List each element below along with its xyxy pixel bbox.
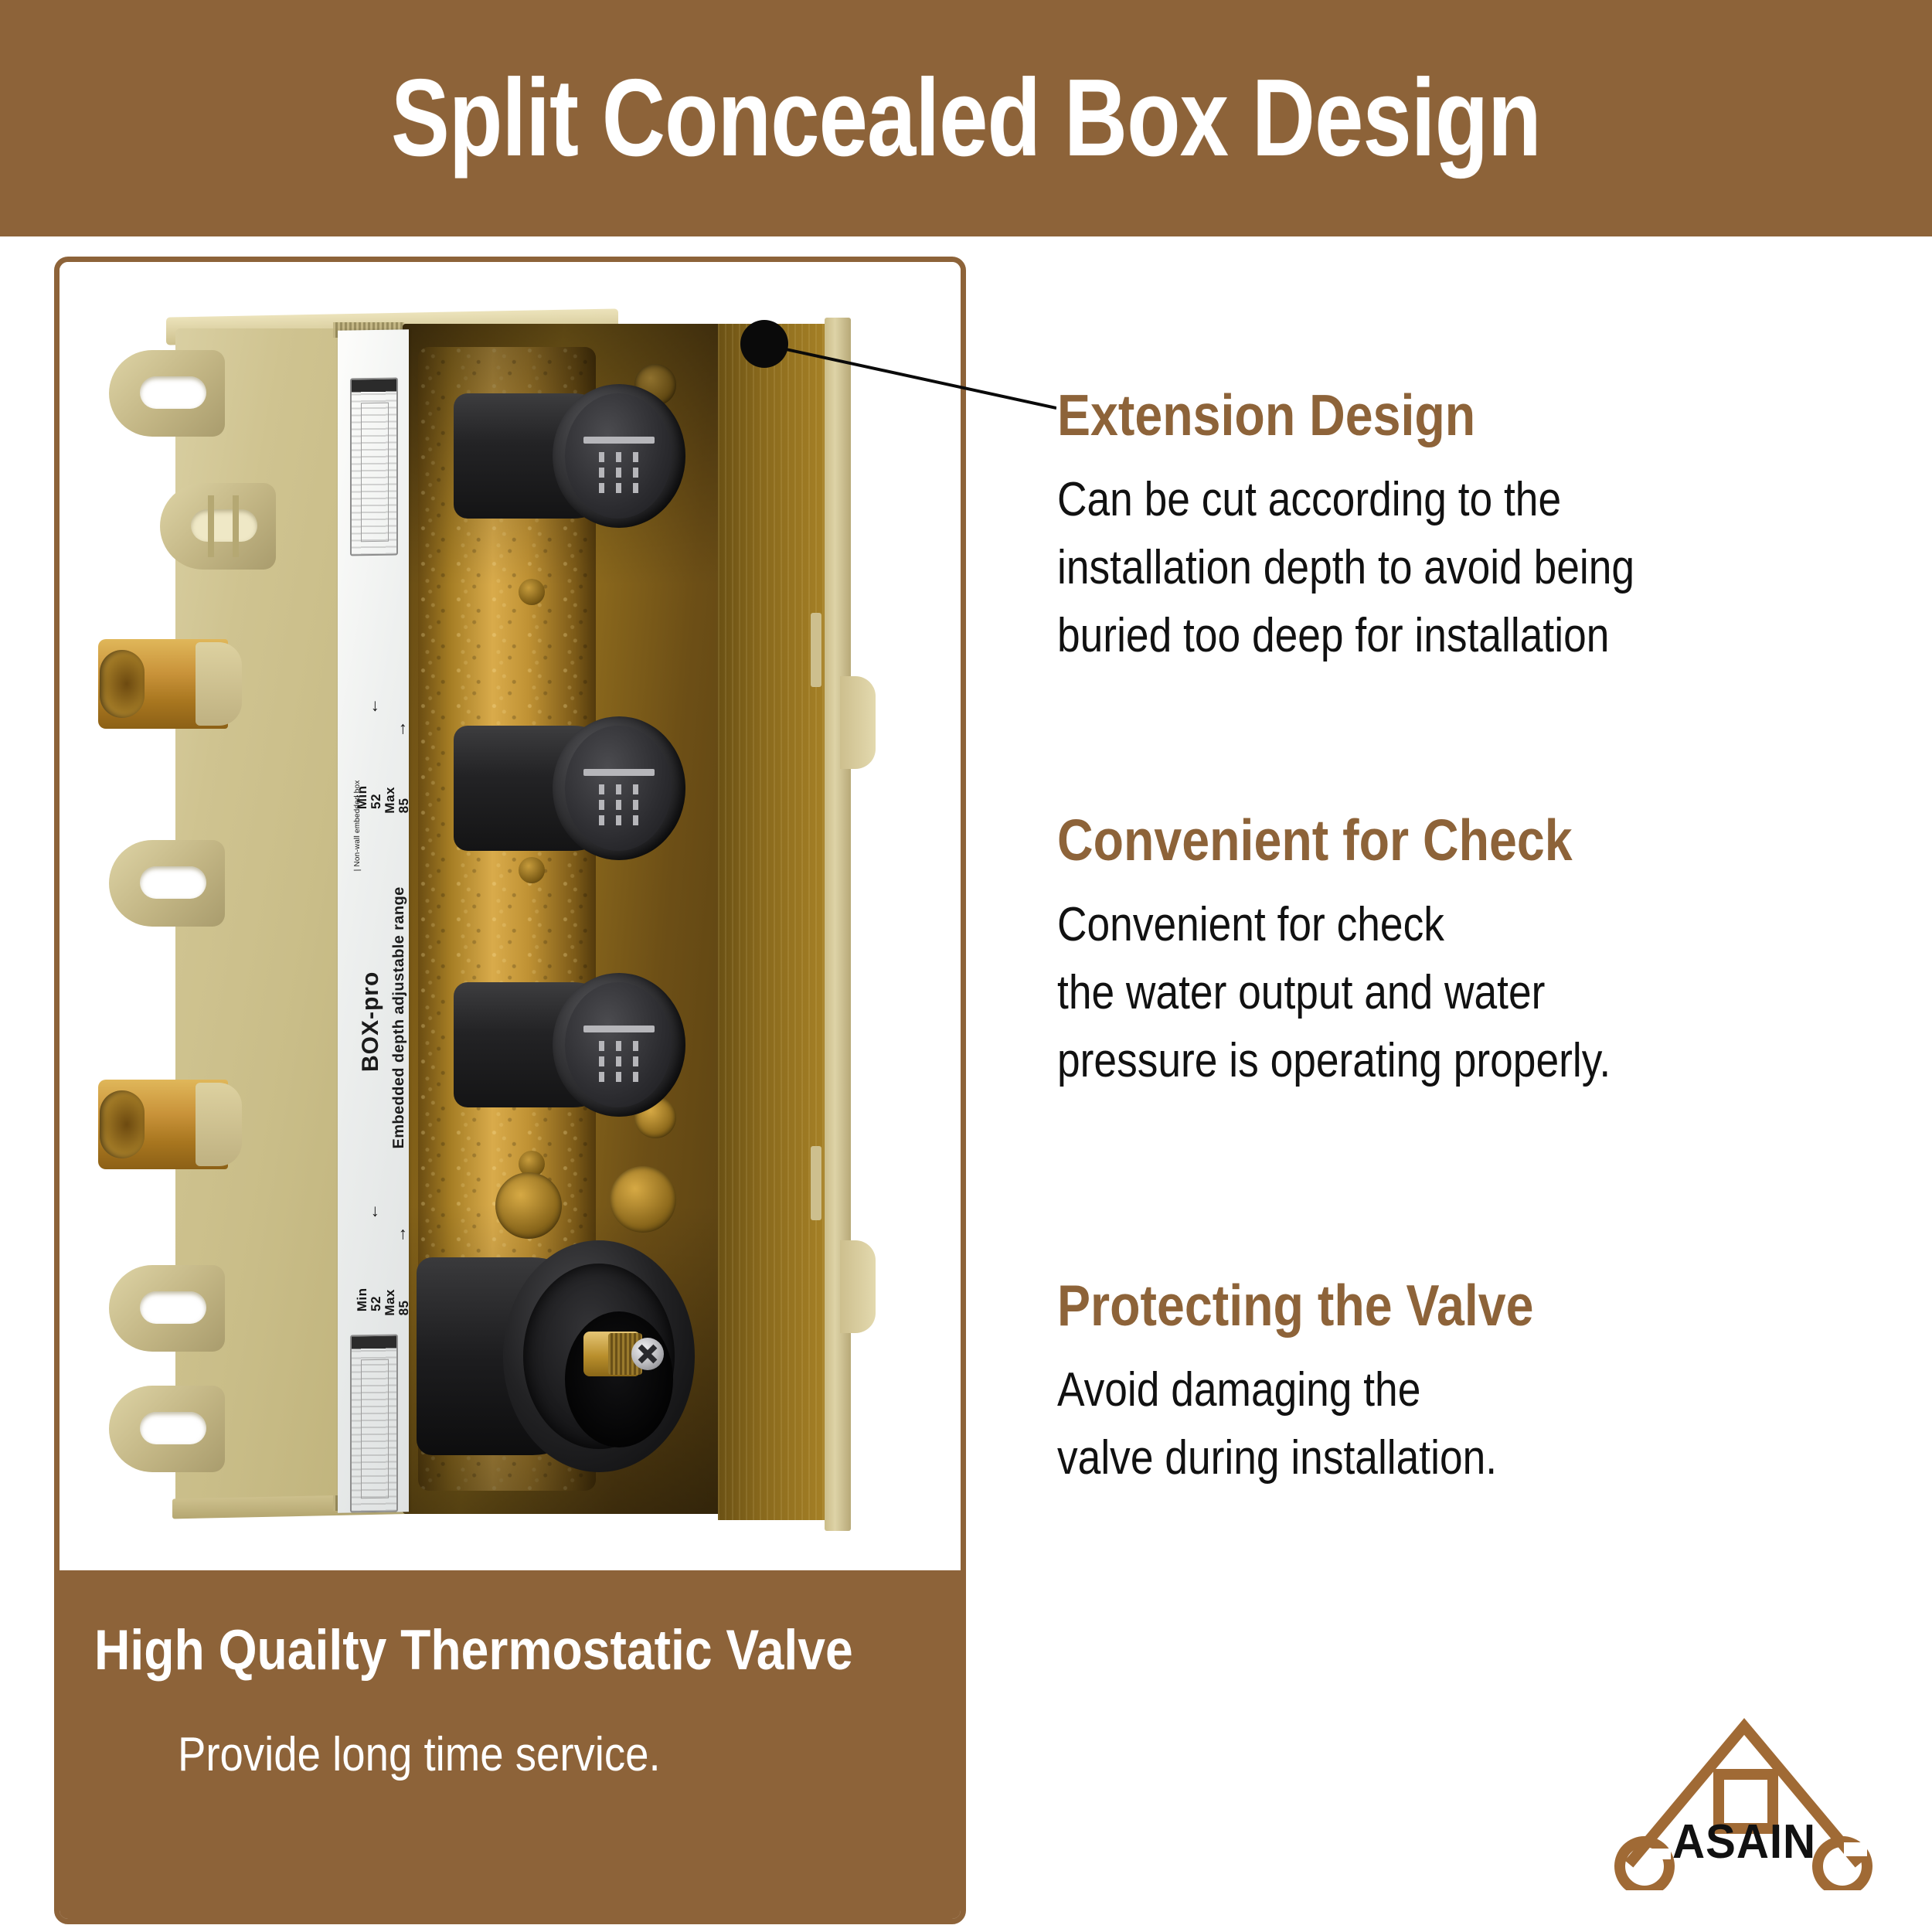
wall-ribbing [718,324,834,1520]
label-subtitle: Embedded depth adjustable range [390,886,408,1148]
shower-spray-icon [599,1041,644,1084]
label-brand: BOX-pro [358,971,384,1072]
arrow-left-icon-2: ← [362,1203,383,1220]
mounting-slot [140,1291,206,1324]
brass-inlet-fitting-bottom [98,1080,228,1169]
box-pro-label: 52 Min ← 85 Max → BOX-pro | Non-wall emb… [338,329,409,1512]
label-max-value-2: 85 [396,1300,409,1315]
page-title: Split Concealed Box Design [391,55,1541,182]
feature-body: Can be cut according to the installation… [1057,466,1781,670]
shower-head-icon [583,1026,655,1032]
feature-body-line: the water output and water [1057,959,1781,1027]
thermostatic-cartridge [417,1240,695,1472]
card-footer: High Quailty Thermostatic Valve Provide … [59,1570,961,1920]
mounting-tab-lower [109,1265,225,1352]
callout-leader-line [761,340,1056,413]
feature-body: Avoid damaging the valve during installa… [1057,1356,1781,1492]
label-max-text: Max [383,787,398,814]
label-diagram-bottom [350,1334,398,1512]
feature-heading: Protecting the Valve [1057,1275,1781,1336]
wall-notch [811,613,821,687]
shower-head-icon [583,769,655,776]
port-cap [553,716,685,860]
feature-body-line: Convenient for check [1057,891,1781,959]
footer-title: High Quailty Thermostatic Valve [94,1618,830,1682]
wall-notch [811,1146,821,1220]
arrow-left-icon: ← [362,698,383,715]
feature-heading: Convenient for Check [1057,810,1781,871]
feature-body-line: buried too deep for installation [1057,602,1781,670]
callout-dot [740,320,788,368]
feature-extension-design: Extension Design Can be cut according to… [1057,385,1900,670]
port-cap [553,384,685,528]
feature-body-line: pressure is operating properly. [1057,1027,1781,1095]
port-cap-face [565,393,672,519]
arrow-right-icon: → [390,720,409,737]
mounting-tab-bottom [109,1386,225,1472]
mounting-tab-grid [160,483,276,570]
footer-subtitle: Provide long time service. [178,1727,840,1782]
mounting-tab-middle [109,840,225,927]
port-cap-face [565,982,672,1107]
product-photo: 52 Min ← 85 Max → BOX-pro | Non-wall emb… [60,262,961,1576]
mounting-tab-top [109,350,225,437]
mounting-slot [140,866,206,899]
mounting-slot [191,509,257,542]
port-cap [553,973,685,1117]
feature-body: Convenient for check the water output an… [1057,891,1781,1095]
mounting-slot [140,376,206,409]
label-min-value-2: 52 [369,1296,384,1311]
cartridge-outer-ring [503,1240,695,1472]
feature-body-line: valve during installation. [1057,1424,1781,1492]
box-inner-wall [718,324,834,1520]
shower-spray-icon [599,452,644,495]
feature-protecting-the-valve: Protecting the Valve Avoid damaging the … [1057,1275,1900,1492]
port-cap-face [565,726,672,851]
label-max-text-2: Max [383,1289,398,1316]
arrow-right-icon-2: → [390,1226,409,1243]
phillips-screw-icon [631,1338,664,1370]
feature-body-line: Avoid damaging the [1057,1356,1781,1424]
logo-wordmark: ASAIN [1610,1815,1879,1869]
feature-body-line: installation depth to avoid being [1057,534,1781,602]
edge-bump-bottom [840,1240,876,1333]
feature-heading: Extension Design [1057,385,1781,446]
mounting-slot [140,1412,206,1444]
label-min-text-2: Min [355,1287,370,1311]
label-max-value: 85 [396,798,409,813]
outlet-port-2 [454,716,685,860]
edge-bump-top [840,676,876,769]
brass-inlet-fitting-top [98,639,228,729]
label-min-value: 52 [369,794,384,809]
shower-head-icon [583,437,655,444]
valve-box-assembly: 52 Min ← 85 Max → BOX-pro | Non-wall emb… [131,290,903,1565]
label-diagram-top [350,377,398,556]
feature-convenient-for-check: Convenient for Check Convenient for chec… [1057,810,1900,1095]
box-outer-edge [825,318,851,1531]
brand-logo: ASAIN [1601,1713,1887,1890]
shower-spray-icon [599,784,644,828]
outlet-port-1 [454,384,685,528]
outlet-port-3 [454,973,685,1117]
header-banner: Split Concealed Box Design [0,0,1932,236]
label-brand-note: | Non-wall embedded box [353,780,362,871]
product-card: 52 Min ← 85 Max → BOX-pro | Non-wall emb… [54,257,966,1924]
feature-body-line: Can be cut according to the [1057,466,1781,534]
